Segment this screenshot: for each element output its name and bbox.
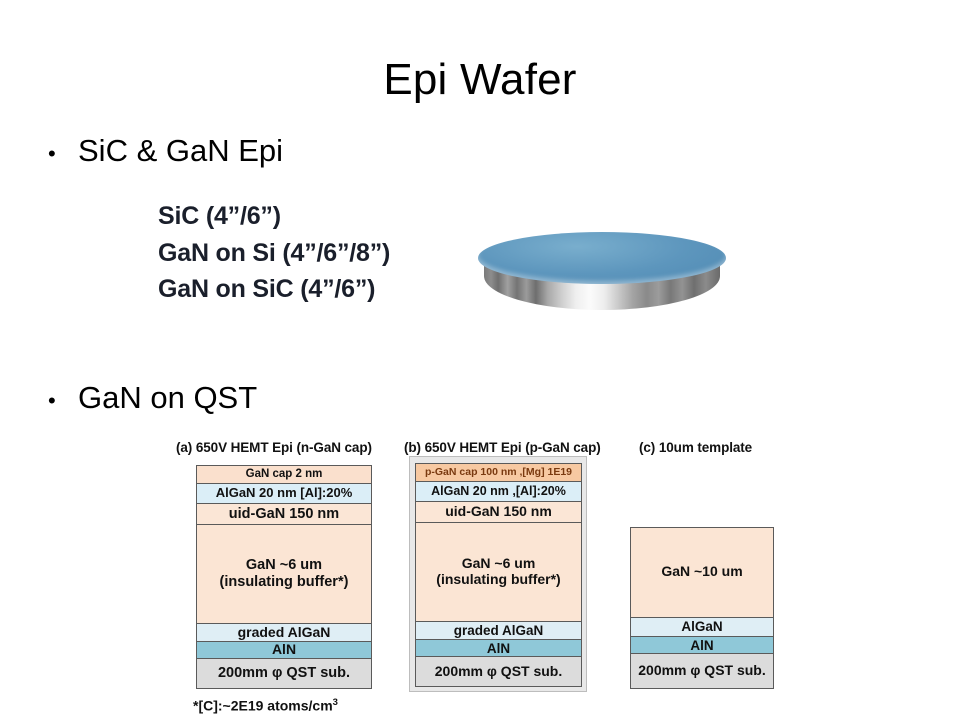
footnote-text: *[C]:~2E19 atoms/cm: [193, 698, 333, 714]
stack-caption-b: (b) 650V HEMT Epi (p-GaN cap): [404, 440, 601, 455]
bullet-marker-icon: •: [48, 143, 78, 165]
footnote-carbon-concentration: *[C]:~2E19 atoms/cm3: [193, 697, 338, 714]
epi-list-item: SiC (4”/6”): [158, 198, 390, 235]
epi-stack-layer: graded AlGaN: [416, 622, 581, 641]
epi-stack-layer: uid-GaN 150 nm: [416, 502, 581, 523]
bullet-marker-icon: •: [48, 390, 78, 412]
epi-stack-layer: GaN ~10 um: [631, 528, 773, 618]
epi-stack-layer: AlN: [416, 640, 581, 657]
epi-stack-layer: AlN: [631, 637, 773, 655]
footnote-superscript: 3: [333, 697, 338, 708]
page-title: Epi Wafer: [0, 56, 960, 104]
epi-stack-layer: AlGaN 20 nm ,[Al]:20%: [416, 482, 581, 502]
epi-stack-layer: GaN ~6 um (insulating buffer*): [197, 525, 371, 624]
epi-list-item: GaN on SiC (4”/6”): [158, 271, 390, 308]
epi-stack-layer: graded AlGaN: [197, 624, 371, 643]
epi-stack-layer: p-GaN cap 100 nm ,[Mg] 1E19: [416, 464, 581, 482]
epi-stack-layer: AlN: [197, 642, 371, 659]
epi-stack-layer: 200mm φ QST sub.: [631, 654, 773, 688]
epi-stack-layer: uid-GaN 150 nm: [197, 504, 371, 525]
epi-wafer-type-list: SiC (4”/6”) GaN on Si (4”/6”/8”) GaN on …: [158, 198, 390, 308]
epi-stack-diagram-c: GaN ~10 umAlGaNAlN200mm φ QST sub.: [626, 524, 778, 694]
wafer-disc-illustration: [478, 232, 726, 324]
bullet-item-sic-gan-epi: • SiC & GaN Epi: [48, 133, 283, 169]
epi-stack-layers: p-GaN cap 100 nm ,[Mg] 1E19AlGaN 20 nm ,…: [415, 463, 582, 687]
stack-caption-c: (c) 10um template: [639, 440, 752, 455]
epi-stack-diagram-a: GaN cap 2 nmAlGaN 20 nm [Al]:20%uid-GaN …: [190, 462, 378, 692]
bullet-label: SiC & GaN Epi: [78, 133, 283, 169]
epi-stack-layers: GaN ~10 umAlGaNAlN200mm φ QST sub.: [630, 527, 774, 689]
epi-stack-layer: AlGaN 20 nm [Al]:20%: [197, 484, 371, 504]
epi-stack-layer: 200mm φ QST sub.: [416, 657, 581, 686]
epi-stack-layer: GaN ~6 um (insulating buffer*): [416, 523, 581, 622]
stack-caption-a: (a) 650V HEMT Epi (n-GaN cap): [176, 440, 372, 455]
wafer-top-surface: [478, 232, 726, 284]
bullet-item-gan-on-qst: • GaN on QST: [48, 380, 257, 416]
epi-list-item: GaN on Si (4”/6”/8”): [158, 235, 390, 272]
epi-stack-layers: GaN cap 2 nmAlGaN 20 nm [Al]:20%uid-GaN …: [196, 465, 372, 689]
epi-stack-diagram-b: p-GaN cap 100 nm ,[Mg] 1E19AlGaN 20 nm ,…: [409, 456, 587, 692]
epi-stack-layer: 200mm φ QST sub.: [197, 659, 371, 688]
bullet-label: GaN on QST: [78, 380, 257, 416]
epi-stack-layer: GaN cap 2 nm: [197, 466, 371, 484]
epi-stack-layer: AlGaN: [631, 618, 773, 637]
